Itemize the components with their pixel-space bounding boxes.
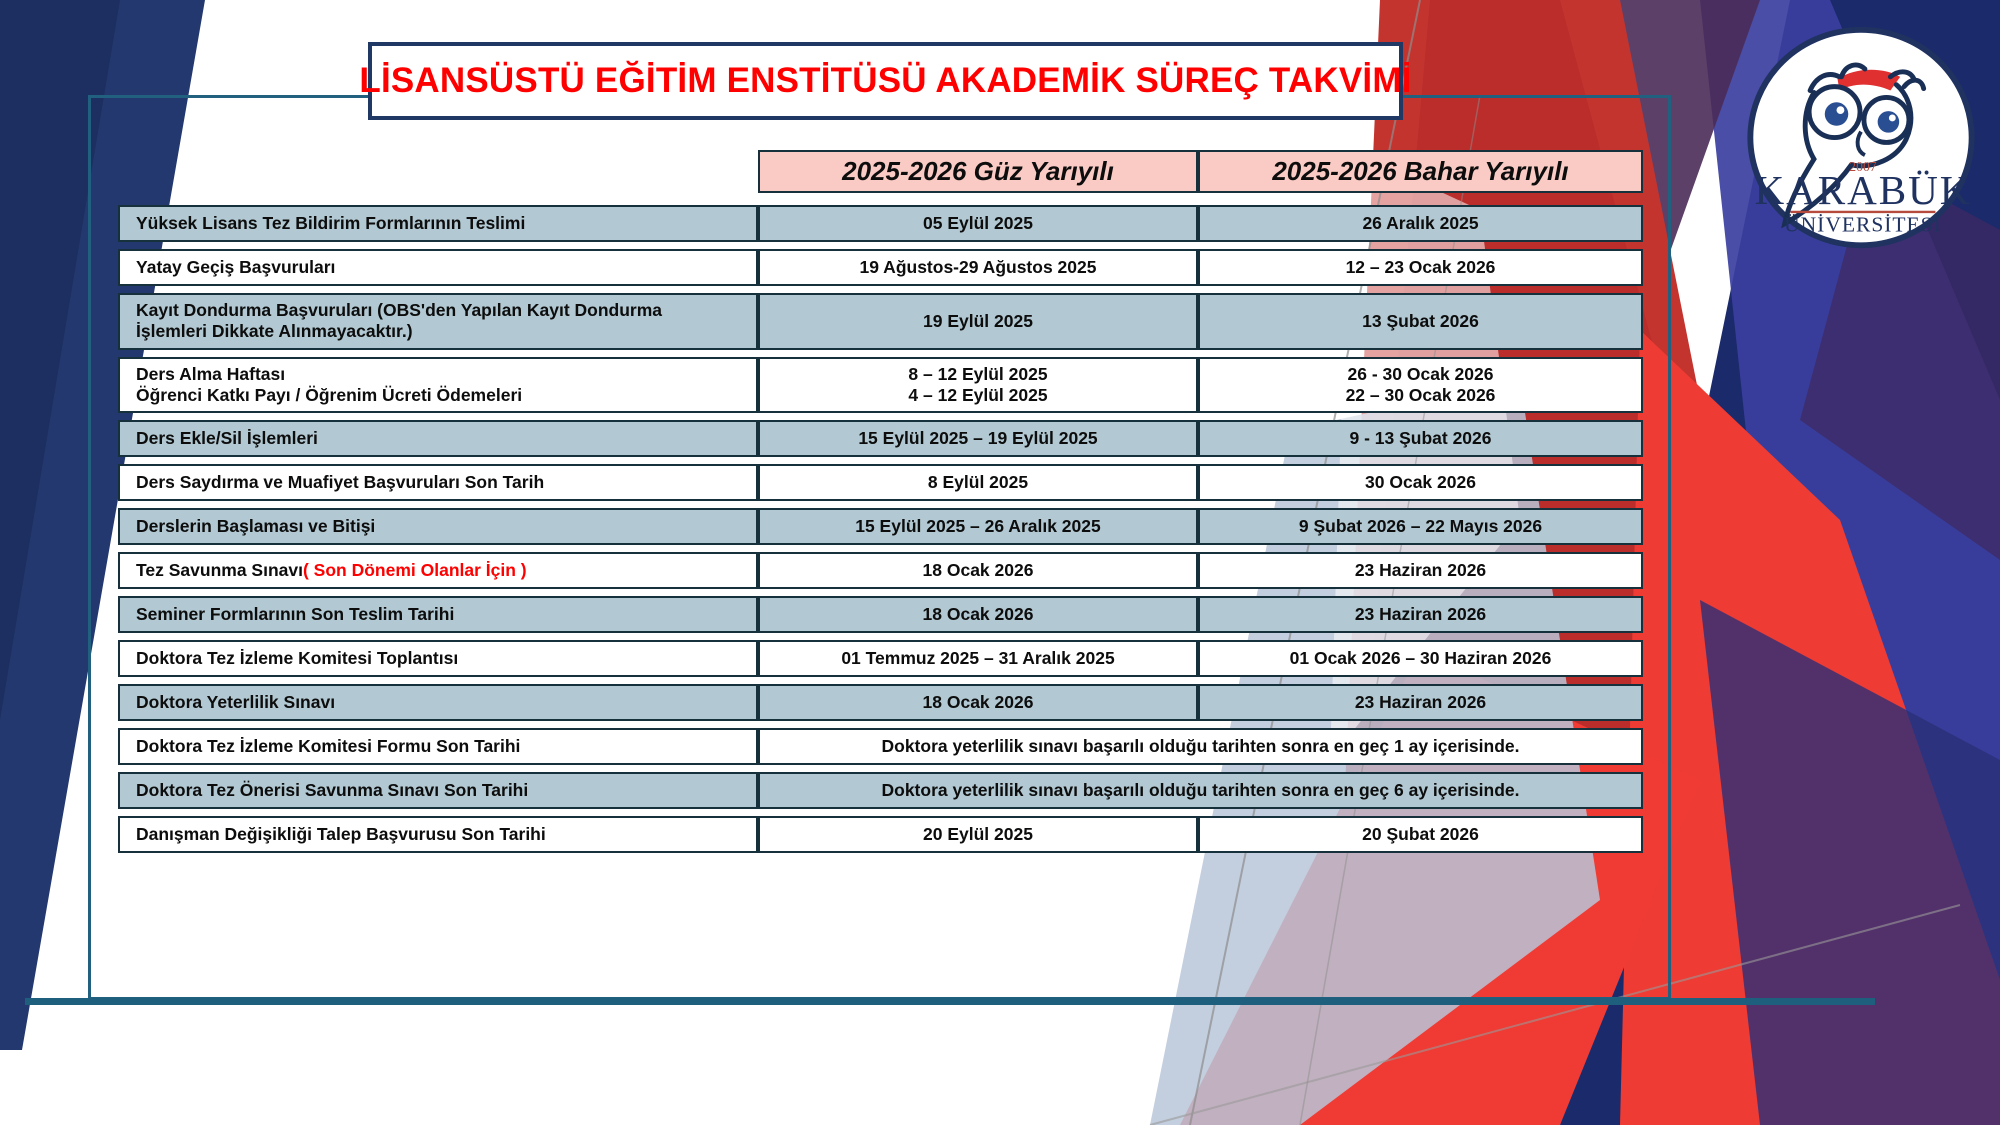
row-label: Derslerin Başlaması ve Bitişi: [118, 508, 758, 545]
row-label: Danışman Değişikliği Talep Başvurusu Son…: [118, 816, 758, 853]
header-spring-term: 2025-2026 Bahar Yarıyılı: [1198, 150, 1643, 193]
row-label: Tez Savunma Sınavı ( Son Dönemi Olanlar …: [118, 552, 758, 589]
row-label-line1: Kayıt Dondurma Başvuruları (OBS'den Yapı…: [136, 300, 662, 321]
row-fall-line2: 4 – 12 Eylül 2025: [908, 385, 1047, 406]
row-fall-value: 15 Eylül 2025 – 26 Aralık 2025: [758, 508, 1198, 545]
table-row: Tez Savunma Sınavı ( Son Dönemi Olanlar …: [118, 552, 1643, 589]
row-label-line2: İşlemleri Dikkate Alınmayacaktır.): [136, 321, 413, 342]
row-fall-value: 18 Ocak 2026: [758, 684, 1198, 721]
row-label: Ders Saydırma ve Muafiyet Başvuruları So…: [118, 464, 758, 501]
row-label: Ders Ekle/Sil İşlemleri: [118, 420, 758, 457]
row-fall-value: 8 – 12 Eylül 2025 4 – 12 Eylül 2025: [758, 357, 1198, 414]
row-label: Kayıt Dondurma Başvuruları (OBS'den Yapı…: [118, 293, 758, 350]
row-spring-line1: 26 - 30 Ocak 2026: [1348, 364, 1494, 385]
row-spring-value: 23 Haziran 2026: [1198, 552, 1643, 589]
row-fall-value: 01 Temmuz 2025 – 31 Aralık 2025: [758, 640, 1198, 677]
row-fall-value: 20 Eylül 2025: [758, 816, 1198, 853]
row-spring-value: 26 Aralık 2025: [1198, 205, 1643, 242]
row-spring-value: 9 Şubat 2026 – 22 Mayıs 2026: [1198, 508, 1643, 545]
row-spring-value: 20 Şubat 2026: [1198, 816, 1643, 853]
row-spring-value: 13 Şubat 2026: [1198, 293, 1643, 350]
header-spacer: [118, 150, 758, 193]
row-label: Yatay Geçiş Başvuruları: [118, 249, 758, 286]
row-label: Yüksek Lisans Tez Bildirim Formlarının T…: [118, 205, 758, 242]
row-fall-value: 19 Ağustos-29 Ağustos 2025: [758, 249, 1198, 286]
table-row: Ders Saydırma ve Muafiyet Başvuruları So…: [118, 464, 1643, 501]
row-label: Seminer Formlarının Son Teslim Tarihi: [118, 596, 758, 633]
row-label: Doktora Tez İzleme Komitesi Toplantısı: [118, 640, 758, 677]
page-title-box: LİSANSÜSTÜ EĞİTİM ENSTİTÜSÜ AKADEMİK SÜR…: [368, 42, 1403, 120]
row-label-text: Tez Savunma Sınavı: [136, 560, 303, 581]
header-fall-term: 2025-2026 Güz Yarıyılı: [758, 150, 1198, 193]
row-label: Doktora Yeterlilik Sınavı: [118, 684, 758, 721]
page-title: LİSANSÜSTÜ EĞİTİM ENSTİTÜSÜ AKADEMİK SÜR…: [359, 61, 1411, 101]
table-row: Derslerin Başlaması ve Bitişi 15 Eylül 2…: [118, 508, 1643, 545]
table-row: Kayıt Dondurma Başvuruları (OBS'den Yapı…: [118, 293, 1643, 350]
row-spring-value: 30 Ocak 2026: [1198, 464, 1643, 501]
row-spring-value: 23 Haziran 2026: [1198, 596, 1643, 633]
row-fall-line1: 8 – 12 Eylül 2025: [908, 364, 1047, 385]
row-spring-value: 23 Haziran 2026: [1198, 684, 1643, 721]
row-spring-value: 9 - 13 Şubat 2026: [1198, 420, 1643, 457]
karabuk-university-logo: 2007 KARABÜK ÜNİVERSİTESİ: [1742, 22, 1980, 257]
table-row: Ders Alma Haftası Öğrenci Katkı Payı / Ö…: [118, 357, 1643, 414]
row-spring-line2: 22 – 30 Ocak 2026: [1346, 385, 1496, 406]
table-row: Danışman Değişikliği Talep Başvurusu Son…: [118, 816, 1643, 853]
svg-text:ÜNİVERSİTESİ: ÜNİVERSİTESİ: [1784, 213, 1942, 237]
row-merged-value: Doktora yeterlilik sınavı başarılı olduğ…: [758, 728, 1643, 765]
table-row: Yatay Geçiş Başvuruları 19 Ağustos-29 Ağ…: [118, 249, 1643, 286]
table-row: Yüksek Lisans Tez Bildirim Formlarının T…: [118, 205, 1643, 242]
row-fall-value: 19 Eylül 2025: [758, 293, 1198, 350]
table-row: Doktora Tez İzleme Komitesi Formu Son Ta…: [118, 728, 1643, 765]
svg-text:KARABÜK: KARABÜK: [1754, 167, 1971, 213]
row-fall-value: 18 Ocak 2026: [758, 596, 1198, 633]
table-row: Doktora Tez İzleme Komitesi Toplantısı 0…: [118, 640, 1643, 677]
row-spring-value: 12 – 23 Ocak 2026: [1198, 249, 1643, 286]
table-row: Doktora Yeterlilik Sınavı 18 Ocak 2026 2…: [118, 684, 1643, 721]
row-label: Doktora Tez Önerisi Savunma Sınavı Son T…: [118, 772, 758, 809]
table-row: Ders Ekle/Sil İşlemleri 15 Eylül 2025 – …: [118, 420, 1643, 457]
row-spring-value: 26 - 30 Ocak 2026 22 – 30 Ocak 2026: [1198, 357, 1643, 414]
row-spring-value: 01 Ocak 2026 – 30 Haziran 2026: [1198, 640, 1643, 677]
row-fall-value: 18 Ocak 2026: [758, 552, 1198, 589]
slide-canvas: LİSANSÜSTÜ EĞİTİM ENSTİTÜSÜ AKADEMİK SÜR…: [0, 0, 2000, 1125]
table-header-row: 2025-2026 Güz Yarıyılı 2025-2026 Bahar Y…: [118, 150, 1643, 193]
row-label: Ders Alma Haftası Öğrenci Katkı Payı / Ö…: [118, 357, 758, 414]
table-row: Doktora Tez Önerisi Savunma Sınavı Son T…: [118, 772, 1643, 809]
row-fall-value: 05 Eylül 2025: [758, 205, 1198, 242]
table-row: Seminer Formlarının Son Teslim Tarihi 18…: [118, 596, 1643, 633]
row-fall-value: 15 Eylül 2025 – 19 Eylül 2025: [758, 420, 1198, 457]
row-label-line1: Ders Alma Haftası: [136, 364, 285, 385]
row-label-note: ( Son Dönemi Olanlar İçin ): [303, 560, 527, 581]
academic-calendar-table: 2025-2026 Güz Yarıyılı 2025-2026 Bahar Y…: [118, 150, 1643, 860]
row-label-line2: Öğrenci Katkı Payı / Öğrenim Ücreti Ödem…: [136, 385, 522, 406]
row-label: Doktora Tez İzleme Komitesi Formu Son Ta…: [118, 728, 758, 765]
frame-bottom-bar: [25, 998, 1875, 1005]
row-fall-value: 8 Eylül 2025: [758, 464, 1198, 501]
row-merged-value: Doktora yeterlilik sınavı başarılı olduğ…: [758, 772, 1643, 809]
